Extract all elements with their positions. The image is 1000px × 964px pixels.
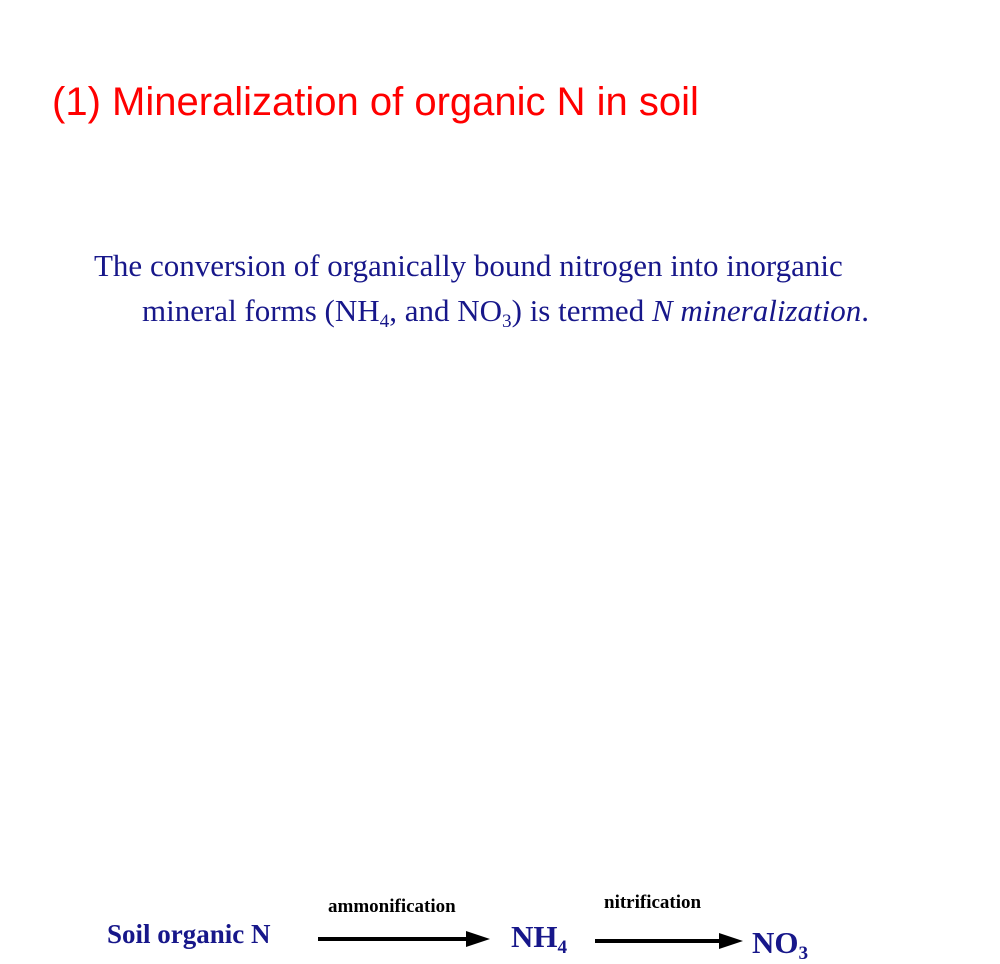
page-title: (1) Mineralization of organic N in soil [52, 79, 699, 125]
reaction-species-no3: NO3 [752, 926, 808, 960]
species-label: Soil organic N [107, 919, 271, 949]
slide-canvas: (1) Mineralization of organic N in soil … [0, 0, 1000, 750]
arrow-right-icon-nitrification [593, 930, 749, 952]
species-subscript: 3 [799, 943, 809, 964]
reaction-arrow-label-ammonification: ammonification [328, 896, 456, 918]
reaction-species-soil-organic-n: Soil organic N [107, 919, 271, 949]
species-label: NO [752, 925, 799, 960]
body-text-segment-4: . [861, 293, 869, 328]
subscript-no3: 3 [502, 311, 512, 332]
body-text-segment-2: , and NO [389, 293, 502, 328]
subscript-nh4: 4 [380, 311, 390, 332]
italic-term-n-mineralization: N mineralization [652, 293, 861, 328]
species-subscript: 4 [558, 937, 568, 958]
arrow-right-icon-ammonification [316, 928, 496, 950]
reaction-diagram: Soil organic N ammonification NH4 nitrif… [0, 440, 1000, 550]
body-paragraph: The conversion of organically bound nitr… [94, 243, 942, 333]
body-text-segment-3: ) is termed [512, 293, 652, 328]
reaction-arrow-label-nitrification: nitrification [604, 892, 701, 914]
reaction-species-nh4: NH4 [511, 920, 567, 954]
species-label: NH [511, 919, 558, 954]
